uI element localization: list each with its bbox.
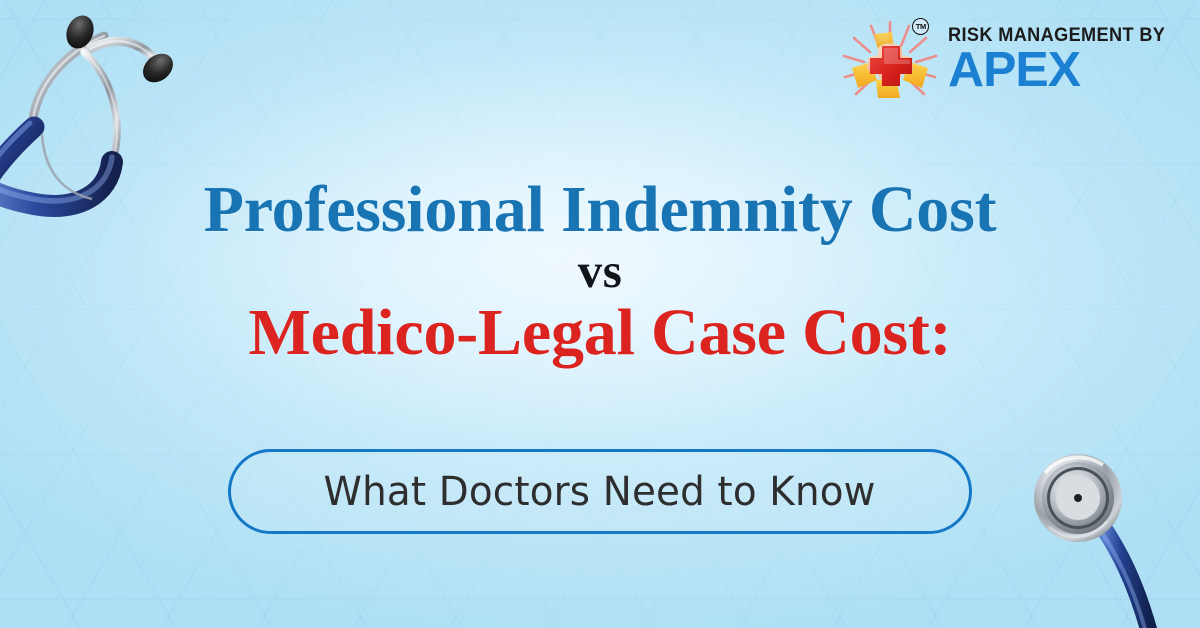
logo-brand-name: APEX — [948, 47, 1080, 94]
logo-wordmark: RISK MANAGEMENT BY APEX — [948, 26, 1182, 94]
title-line-professional-indemnity-cost: Professional Indemnity Cost — [0, 176, 1200, 243]
title-line-medico-legal-case-cost: Medico-Legal Case Cost: — [0, 299, 1200, 368]
title-line-vs: vs — [0, 245, 1200, 298]
apex-cross-hands-icon: TM — [838, 14, 942, 106]
subtitle-container: What Doctors Need to Know — [0, 449, 1200, 534]
subtitle-label: What Doctors Need to Know — [324, 469, 876, 515]
page-title: Professional Indemnity Cost vs Medico-Le… — [0, 176, 1200, 368]
banner-root: TM RISK MANAGEMENT BY APEX Professional … — [0, 0, 1200, 628]
brand-logo[interactable]: TM RISK MANAGEMENT BY APEX — [838, 14, 1182, 106]
subtitle-pill[interactable]: What Doctors Need to Know — [228, 449, 972, 534]
